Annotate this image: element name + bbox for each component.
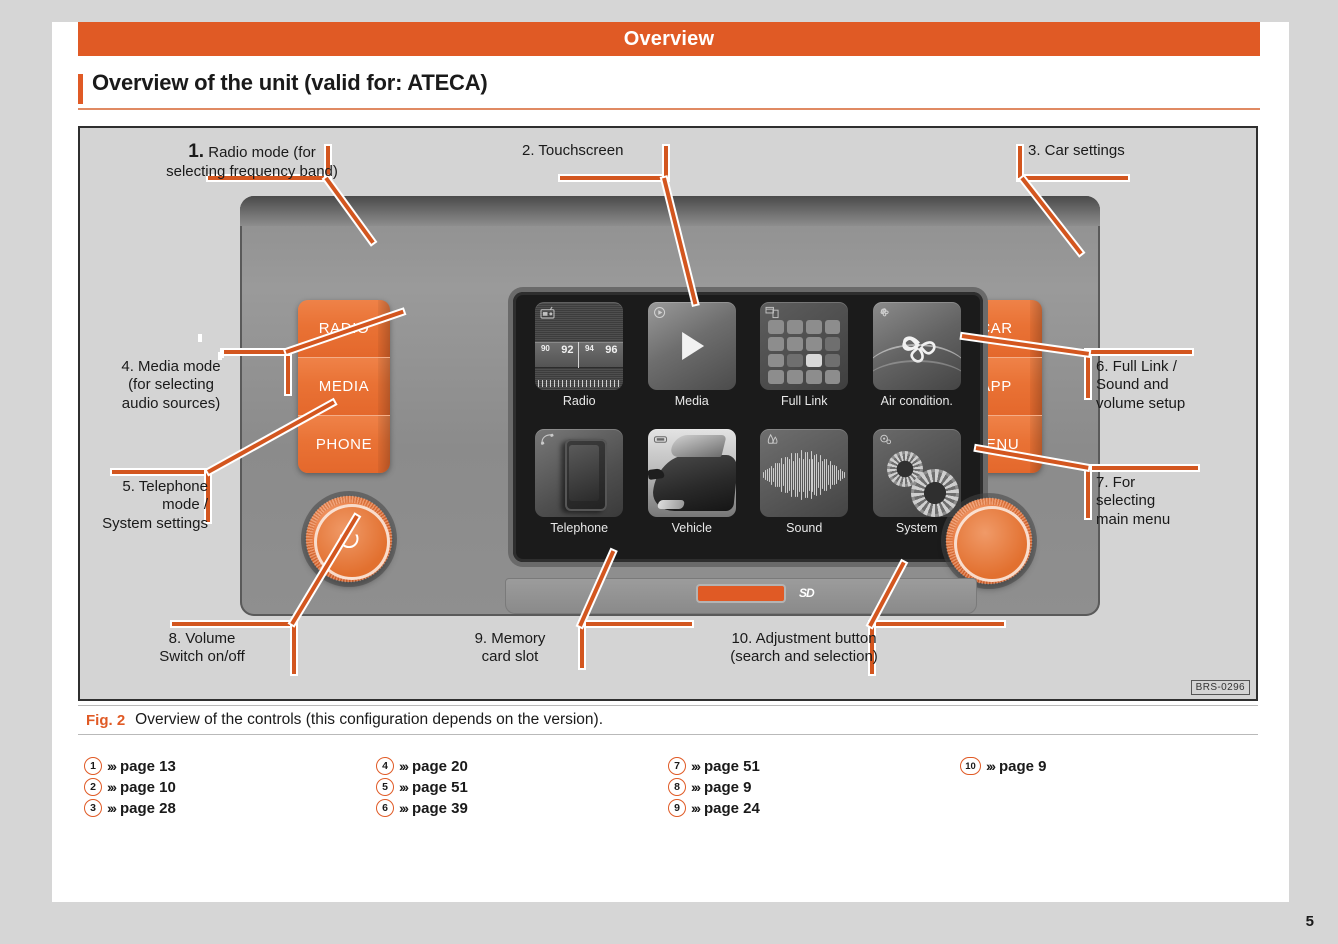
callout-1-line2: selecting frequency band) (142, 163, 362, 181)
phone-button[interactable]: PHONE (298, 416, 390, 473)
callout-2-text: 2. Touchscreen (522, 142, 623, 159)
dial-needle (578, 342, 579, 368)
leader-line-6-v (1086, 350, 1090, 398)
page-reference-text: page 10 (120, 779, 176, 796)
leader-line-5-h (112, 470, 210, 474)
page-number: 5 (1306, 913, 1314, 930)
page-reference-column: 4›››page 205›››page 516›››page 39 (376, 756, 668, 819)
page-reference-item[interactable]: 3›››page 28 (84, 798, 376, 818)
tile-label-air-condition: Air condition. (881, 394, 953, 408)
waveform-bar (816, 454, 817, 496)
page-reference-text: page 9 (704, 779, 752, 796)
tile-label-system: System (896, 521, 938, 535)
section-underline (78, 108, 1260, 110)
page-header-title: Overview (624, 28, 715, 51)
reference-arrow-icon: ››› (691, 779, 699, 795)
page-reference-item[interactable]: 4›››page 20 (376, 756, 668, 776)
knob-ring (954, 506, 1030, 582)
page-reference-text: page 51 (412, 779, 468, 796)
leader-line-8-h (172, 622, 296, 626)
waveform-bar (824, 459, 825, 491)
leader-line-3-h (1018, 176, 1128, 180)
home-tile-grid: 90 92 94 96 Radio (527, 302, 969, 552)
callout-3: 3. Car settings (1028, 142, 1125, 160)
page-reference-text: page 39 (412, 800, 468, 817)
page-reference-number: 7 (668, 757, 686, 775)
vehicle-tile-art (648, 429, 736, 517)
sd-logo: SD (799, 586, 814, 600)
page-header-bar: Overview (78, 22, 1260, 56)
handset-icon (540, 433, 555, 446)
telephone-tile-art (535, 429, 623, 517)
callout-1-line1: Radio mode (for (208, 144, 316, 161)
page-reference-number: 6 (376, 799, 394, 817)
full-link-app-grid (768, 320, 840, 384)
waveform-bar (805, 452, 806, 497)
page-reference-number: 3 (84, 799, 102, 817)
play-icon (682, 332, 704, 360)
waveform-bar (789, 459, 790, 490)
smartphone-illustration (565, 439, 607, 511)
callout-9-line2: card slot (448, 648, 572, 666)
page-reference-text: page 9 (999, 758, 1047, 775)
page-reference-text: page 28 (120, 800, 176, 817)
waveform-bar (801, 450, 802, 500)
page-reference-list: 1›››page 132›››page 103›››page 284›››pag… (84, 756, 1264, 819)
tile-label-telephone: Telephone (550, 521, 608, 535)
gears-icon-large (911, 469, 959, 517)
callout-10-line1: 10. Adjustment button (704, 630, 904, 648)
tile-full-link[interactable]: Full Link (752, 302, 857, 425)
gear-small-icon (878, 433, 893, 446)
volume-power-knob[interactable] (306, 496, 392, 582)
adjustment-knob[interactable] (946, 498, 1032, 584)
tile-air-condition[interactable]: Air condition. (865, 302, 970, 425)
dial-tick-94: 94 (585, 344, 594, 353)
page-reference-item[interactable]: 2›››page 10 (84, 777, 376, 797)
tile-radio[interactable]: 90 92 94 96 Radio (527, 302, 632, 425)
callout-9: 9. Memory card slot (448, 630, 572, 667)
waveform-bar (783, 464, 784, 486)
callout-5-line1: 5. Telephone (80, 478, 208, 496)
waveform-bar (779, 463, 780, 487)
page-reference-item[interactable]: 6›››page 39 (376, 798, 668, 818)
tile-sound[interactable]: Sound (752, 429, 857, 552)
page-reference-item[interactable]: 7›››page 51 (668, 756, 960, 776)
reference-arrow-icon: ››› (107, 800, 115, 816)
full-link-tile-art (760, 302, 848, 390)
callout-2: 2. Touchscreen (522, 142, 623, 160)
phone-button-label: PHONE (316, 436, 372, 453)
callout-6: 6. Full Link / Sound and volume setup (1096, 358, 1216, 413)
reference-arrow-icon: ››› (691, 800, 699, 816)
section-title-block: Overview of the unit (valid for: ATECA) (78, 70, 1260, 110)
figure-caption-label: Fig. 2 (86, 712, 125, 729)
page-reference-number: 8 (668, 778, 686, 796)
callout-8-line2: Switch on/off (120, 648, 284, 666)
reference-arrow-icon: ››› (399, 758, 407, 774)
leader-line-4-v (286, 350, 290, 394)
dial-tick-92: 92 (561, 344, 573, 356)
waveform-bar (844, 472, 845, 478)
leader-line-2-h (560, 176, 668, 180)
callout-3-text: 3. Car settings (1028, 142, 1125, 159)
page-reference-number: 5 (376, 778, 394, 796)
waveform-bar (785, 457, 786, 494)
waveform-bar (820, 455, 821, 496)
smartphone-screen (569, 445, 599, 501)
tile-telephone[interactable]: Telephone (527, 429, 632, 552)
waveform-bar (840, 469, 841, 482)
play-circle-icon (653, 306, 668, 319)
waveform-bar (777, 463, 778, 487)
callout-5: 5. Telephone mode / System settings (80, 478, 208, 533)
system-tile-art (873, 429, 961, 517)
callout-6-line2: Sound and (1096, 376, 1216, 394)
section-title-accent-rule (78, 74, 83, 104)
page-reference-text: page 24 (704, 800, 760, 817)
page-reference-column: 1›››page 132›››page 103›››page 28 (84, 756, 376, 819)
waveform-bar (830, 461, 831, 489)
callout-8-line1: 8. Volume (120, 630, 284, 648)
waveform-bar (836, 466, 837, 485)
waveform-bar (799, 458, 800, 492)
callout-9-line1: 9. Memory (448, 630, 572, 648)
waveform-icon (763, 447, 845, 503)
sound-note-icon (765, 433, 780, 446)
waveform-bar (826, 459, 827, 491)
waveform-bar (818, 462, 819, 489)
media-button[interactable]: MEDIA (298, 358, 390, 416)
page-reference-number: 1 (84, 757, 102, 775)
dial-tick-96: 96 (605, 344, 617, 356)
waveform-bar (765, 470, 766, 479)
page-reference-number: 9 (668, 799, 686, 817)
callout-1-num: 1. (188, 141, 204, 162)
waveform-bar (795, 453, 796, 497)
waveform-bar (834, 465, 835, 484)
waveform-bar (811, 451, 812, 499)
reference-arrow-icon: ››› (691, 758, 699, 774)
tile-label-full-link: Full Link (781, 394, 828, 408)
callout-5-line2: mode / (80, 496, 208, 514)
callout-7-line1: 7. For (1096, 474, 1216, 492)
callout-6-line1: 6. Full Link / (1096, 358, 1216, 376)
figure-illustration: RADIO MEDIA PHONE CAR APP MENU (78, 126, 1258, 701)
waveform-bar (773, 468, 774, 482)
waveform-bar (791, 453, 792, 498)
leader-line-9-v (580, 622, 584, 668)
radio-icon (540, 306, 555, 319)
tile-label-media: Media (675, 394, 709, 408)
waveform-bar (812, 459, 813, 492)
tile-media[interactable]: Media (640, 302, 745, 425)
leader-line-2-v (664, 146, 668, 178)
page-reference-text: page 20 (412, 758, 468, 775)
waveform-bar (771, 466, 772, 485)
page-reference-item[interactable]: 1›››page 13 (84, 756, 376, 776)
figure-caption: Fig. 2 Overview of the controls (this co… (78, 705, 1258, 735)
waveform-bar (822, 461, 823, 490)
leader-line-6-h (1086, 350, 1192, 354)
callout-4-line3: audio sources) (90, 395, 252, 413)
tile-label-radio: Radio (563, 394, 596, 408)
radio-tile-art: 90 92 94 96 (535, 302, 623, 390)
page-reference-item[interactable]: 8›››page 9 (668, 777, 960, 797)
page-reference-item[interactable]: 5›››page 51 (376, 777, 668, 797)
callout-5-line3: System settings (80, 515, 208, 533)
page-reference-number: 2 (84, 778, 102, 796)
page-reference-number: 4 (376, 757, 394, 775)
leader-line-8-v (292, 622, 296, 674)
leader-line-4-h (222, 350, 290, 354)
waveform-bar (809, 459, 810, 491)
leader-line-7-v (1086, 466, 1090, 518)
waveform-bar (838, 470, 839, 481)
leader-line-7-h (1086, 466, 1198, 470)
waveform-bar (793, 461, 794, 490)
callout-10: 10. Adjustment button (search and select… (704, 630, 904, 667)
media-button-label: MEDIA (319, 378, 370, 395)
callout-4: 4. Media mode (for selecting audio sourc… (90, 358, 252, 413)
callout-4-line2: (for selecting (90, 376, 252, 394)
app-button-label: APP (980, 378, 1012, 395)
dial-scale-ticks (538, 380, 620, 387)
waveform-bar (842, 471, 843, 480)
reference-arrow-icon: ››› (399, 779, 407, 795)
waveform-bar (763, 472, 764, 478)
sound-tile-art (760, 429, 848, 517)
memory-card-slot-bar: SD (505, 578, 977, 614)
callout-6-line3: volume setup (1096, 395, 1216, 413)
waveform-bar (767, 469, 768, 480)
apps-grid-icon (765, 306, 780, 319)
waveform-bar (775, 463, 776, 488)
radio-dial: 90 92 94 96 (535, 342, 623, 368)
dial-tick-90: 90 (541, 344, 550, 353)
reference-arrow-icon: ››› (986, 758, 994, 774)
tile-label-sound: Sound (786, 521, 822, 535)
waveform-bar (814, 455, 815, 496)
car-windshield (669, 435, 726, 457)
page-reference-column: 10›››page 9 (960, 756, 1252, 819)
touchscreen[interactable]: 90 92 94 96 Radio (513, 292, 983, 562)
left-button-column: RADIO MEDIA PHONE (298, 300, 390, 473)
car-button-label: CAR (979, 320, 1012, 337)
leader-line-9-h (580, 622, 692, 626)
tile-label-vehicle: Vehicle (672, 521, 712, 535)
callout-1: 1. Radio mode (for selecting frequency b… (142, 140, 362, 181)
callout-7: 7. For selecting main menu (1096, 474, 1216, 529)
reference-arrow-icon: ››› (107, 779, 115, 795)
figure-caption-text: Overview of the controls (this configura… (135, 711, 603, 729)
waveform-bar (769, 468, 770, 482)
media-tile-art (648, 302, 736, 390)
fan-small-icon (878, 306, 893, 319)
car-headlight (657, 500, 685, 509)
waveform-bar (781, 458, 782, 492)
memory-card-slot[interactable] (698, 586, 784, 601)
reference-arrow-icon: ››› (399, 800, 407, 816)
callout-8: 8. Volume Switch on/off (120, 630, 284, 667)
callout-7-line3: main menu (1096, 511, 1216, 529)
page-reference-column: 7›››page 518›››page 99›››page 24 (668, 756, 960, 819)
waveform-bar (828, 465, 829, 484)
reference-arrow-icon: ››› (107, 758, 115, 774)
page-reference-text: page 13 (120, 758, 176, 775)
page-reference-item[interactable]: 9›››page 24 (668, 798, 960, 818)
leader-line-3-v (1018, 146, 1022, 178)
page-reference-item[interactable]: 10›››page 9 (960, 756, 1252, 776)
page-reference-text: page 51 (704, 758, 760, 775)
page-reference-number: 10 (960, 757, 981, 775)
waveform-bar (797, 453, 798, 496)
callout-7-line2: selecting (1096, 492, 1216, 510)
car-small-icon (653, 433, 668, 446)
air-condition-tile-art (873, 302, 961, 390)
head-unit-device: RADIO MEDIA PHONE CAR APP MENU (240, 196, 1100, 616)
waveform-bar (787, 457, 788, 493)
leader-line-10-h (870, 622, 1004, 626)
figure-id-code: BRS-0296 (1191, 680, 1250, 695)
callout-10-line2: (search and selection) (704, 648, 904, 666)
waveform-bar (832, 465, 833, 485)
airflow-wave-2 (873, 360, 961, 388)
callout-4-line1: 4. Media mode (90, 358, 252, 376)
section-title: Overview of the unit (valid for: ATECA) (92, 70, 488, 96)
waveform-bar (803, 459, 804, 492)
waveform-bar (807, 452, 808, 497)
tile-vehicle[interactable]: Vehicle (640, 429, 745, 552)
